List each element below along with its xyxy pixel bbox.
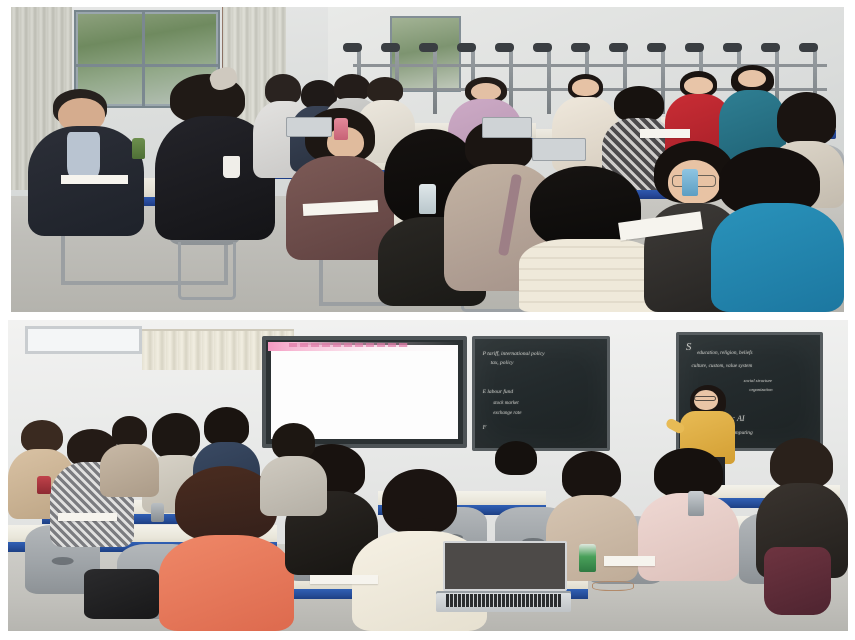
bag-black-left — [84, 569, 160, 619]
chalk-left-line-6: F — [483, 425, 487, 431]
chalk-left-line-1: P tariff, international policy — [483, 351, 545, 357]
chalk-right-line-3: culture, custom, value system — [691, 363, 752, 369]
papers-left — [61, 175, 128, 184]
window-frame-left — [25, 326, 143, 354]
notebook-back-right — [640, 129, 690, 138]
photo-pair-page: Classroom workshop photo pair — [0, 0, 855, 640]
bottle-pink — [334, 118, 347, 139]
slide-title-text — [289, 343, 408, 347]
photo-group-discussion: Teachers seated in small groups around b… — [11, 7, 844, 312]
bottle-water-centre — [419, 184, 436, 215]
glasses-on-desk — [592, 581, 634, 590]
thermos-right — [688, 491, 703, 516]
thermos-mid — [151, 503, 164, 522]
laptop-front-open[interactable] — [436, 541, 570, 613]
blackboard-left-panel: P tariff, international policy tax, poli… — [472, 336, 611, 451]
attendee-front-mid — [260, 423, 327, 516]
bottle-green-front — [579, 544, 596, 572]
laptop-mid — [482, 117, 532, 138]
photo-lecture-room: P tariff, international policy tax, poli… — [8, 320, 848, 631]
notebook-front-right — [604, 556, 654, 565]
cup-coffee — [223, 156, 240, 177]
chalk-right-line-4: social structure — [744, 378, 773, 383]
chalk-left-line-4: stock market — [493, 401, 518, 406]
backpack-burgundy — [764, 547, 831, 615]
laptop-centre — [532, 138, 586, 161]
chalk-left-line-3: E labour fund — [483, 389, 514, 395]
chalk-right-line-5: organization — [749, 387, 772, 392]
chalk-left-line-2: tax, policy — [491, 360, 514, 366]
bottle-blue — [682, 169, 699, 196]
chalk-right-line-2: education, religion, beliefs — [697, 350, 752, 356]
person-cream-puffer-vest — [519, 166, 661, 312]
chalk-right-line-1: S — [686, 341, 692, 353]
chalk-left-line-5: exchange rate — [493, 411, 521, 416]
laptop-left — [286, 117, 332, 137]
bottle-green — [132, 138, 145, 159]
papers-back-left — [58, 513, 117, 521]
attendee-back-row-left — [100, 416, 159, 497]
attendee-man-suit — [478, 441, 554, 547]
person-teal-coat — [711, 147, 844, 312]
papers-front-left — [310, 575, 377, 584]
thermos-left — [37, 476, 50, 495]
